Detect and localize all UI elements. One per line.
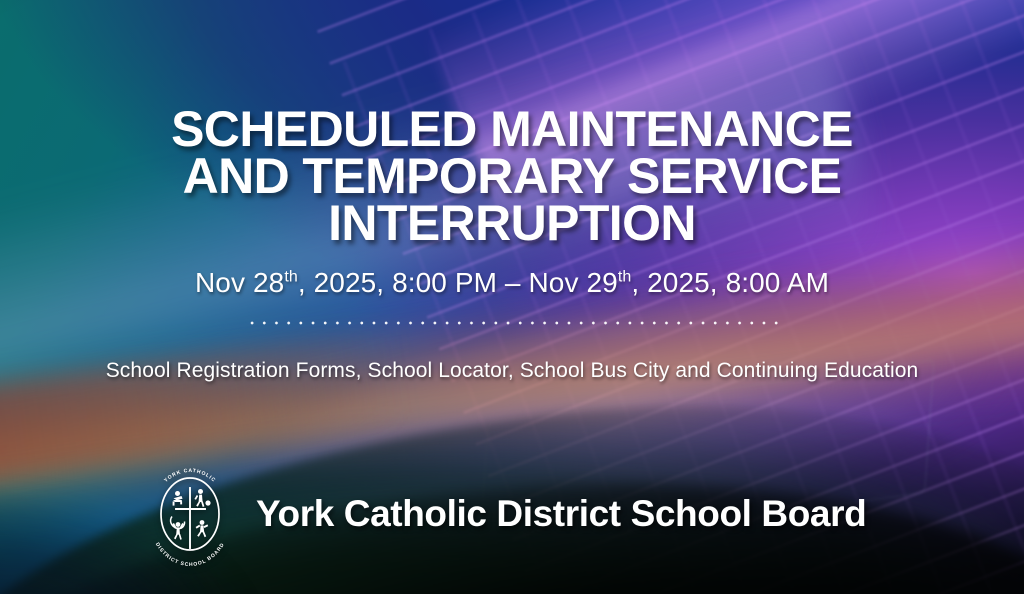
maintenance-notice-banner: SCHEDULED MAINTENANCE AND TEMPORARY SERV… — [0, 0, 1024, 594]
end-date-ordinal: th — [618, 269, 632, 286]
start-date-ordinal: th — [284, 269, 298, 286]
end-date-rest: , 2025, 8:00 AM — [631, 267, 829, 298]
start-date-rest: , 2025, 8:00 PM — [298, 267, 497, 298]
end-date: Nov 29 — [528, 267, 617, 298]
crest-circular-text-top: YORK CATHOLIC — [163, 468, 217, 484]
affected-services-text: School Registration Forms, School Locato… — [0, 357, 1024, 385]
start-date: Nov 28 — [195, 267, 284, 298]
date-range-separator: – — [497, 267, 528, 298]
headline-line-2: AND TEMPORARY SERVICE — [0, 153, 1024, 200]
logo-lockup: YORK CATHOLIC DISTRICT SCHOOL BOARD York… — [140, 462, 866, 566]
banner-content: SCHEDULED MAINTENANCE AND TEMPORARY SERV… — [0, 0, 1024, 594]
organization-name: York Catholic District School Board — [256, 494, 866, 534]
headline-line-1: SCHEDULED MAINTENANCE — [0, 106, 1024, 153]
banner-headline: SCHEDULED MAINTENANCE AND TEMPORARY SERV… — [0, 106, 1024, 247]
headline-line-3: INTERRUPTION — [0, 200, 1024, 247]
york-catholic-district-school-board-crest: YORK CATHOLIC DISTRICT SCHOOL BOARD — [140, 462, 240, 566]
dotted-divider — [246, 321, 782, 325]
maintenance-window: Nov 28th, 2025, 8:00 PM – Nov 29th, 2025… — [0, 266, 1024, 300]
